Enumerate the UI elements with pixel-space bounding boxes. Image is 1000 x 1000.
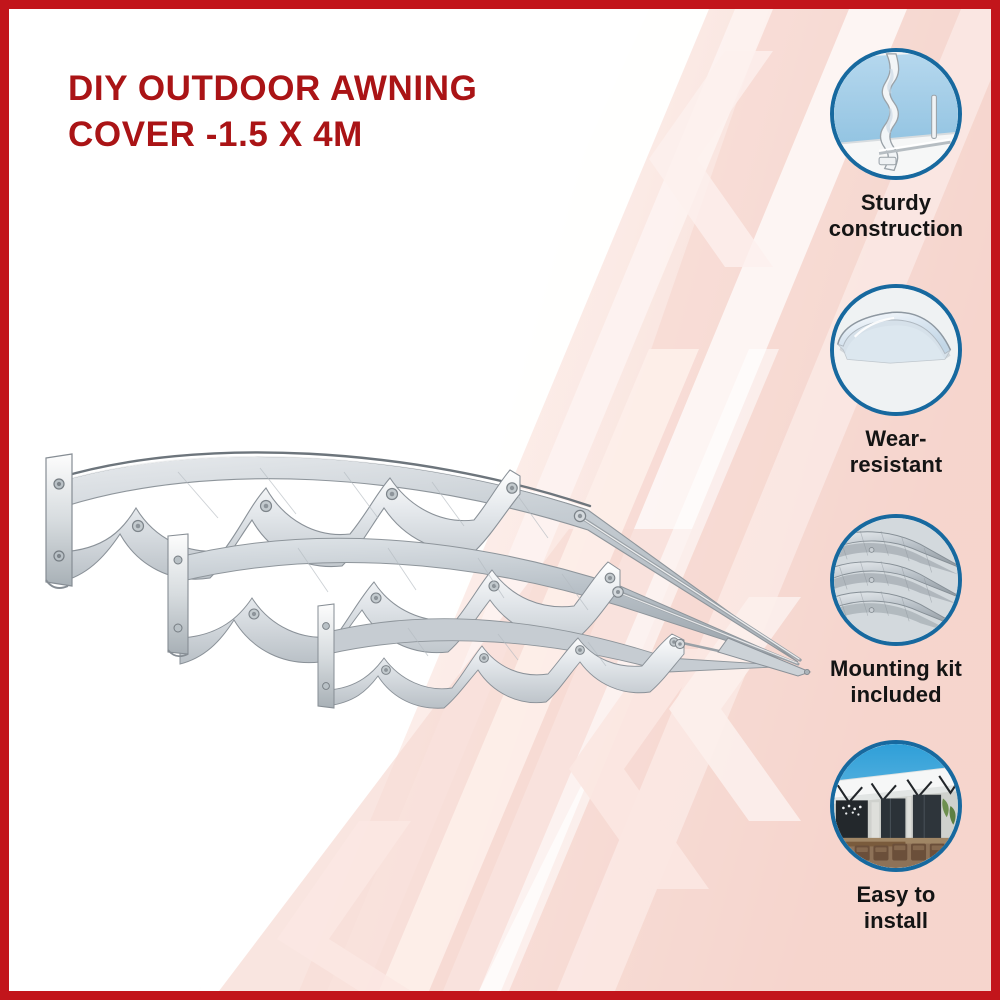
easy-to-install-icon [830, 740, 962, 872]
feature-label-sturdy-construction: Sturdy construction [806, 190, 986, 242]
mounting-kit-icon [830, 514, 962, 646]
feature-item-easy-to-install: Easy to install [806, 740, 986, 934]
feature-label-line-2: install [806, 908, 986, 934]
feature-label-line-2: construction [806, 216, 986, 242]
feature-item-sturdy-construction: Sturdy construction [806, 48, 986, 242]
feature-label-line-1: Easy to [806, 882, 986, 908]
awning-frame-closeup-photo-icon [834, 518, 958, 642]
wear-resistant-icon [830, 284, 962, 416]
curved-awning-panel-photo-icon [834, 288, 958, 412]
installed-awning-patio-photo-icon [834, 744, 958, 868]
feature-label-easy-to-install: Easy to install [806, 882, 986, 934]
feature-label-wear-resistant: Wear- resistant [806, 426, 986, 478]
product-title-line-1: DIY OUTDOOR AWNING [68, 66, 628, 112]
awning-bracket-photo-icon [834, 52, 958, 176]
feature-item-wear-resistant: Wear- resistant [806, 284, 986, 478]
feature-item-mounting-kit-included: Mounting kit included [806, 514, 986, 708]
feature-label-line-1: Wear- [806, 426, 986, 452]
product-banner: DIY OUTDOOR AWNING COVER -1.5 X 4M [0, 0, 1000, 1000]
feature-label-line-1: Sturdy [806, 190, 986, 216]
feature-label-mounting-kit-included: Mounting kit included [806, 656, 986, 708]
feature-label-line-2: included [806, 682, 986, 708]
feature-label-line-2: resistant [806, 452, 986, 478]
feature-list: Sturdy construction [806, 48, 986, 944]
product-title-line-2: COVER -1.5 X 4M [68, 112, 628, 158]
product-image-awning [28, 410, 818, 710]
product-title: DIY OUTDOOR AWNING COVER -1.5 X 4M [68, 66, 628, 158]
sturdy-construction-icon [830, 48, 962, 180]
feature-label-line-1: Mounting kit [806, 656, 986, 682]
awning-illustration [28, 410, 818, 710]
